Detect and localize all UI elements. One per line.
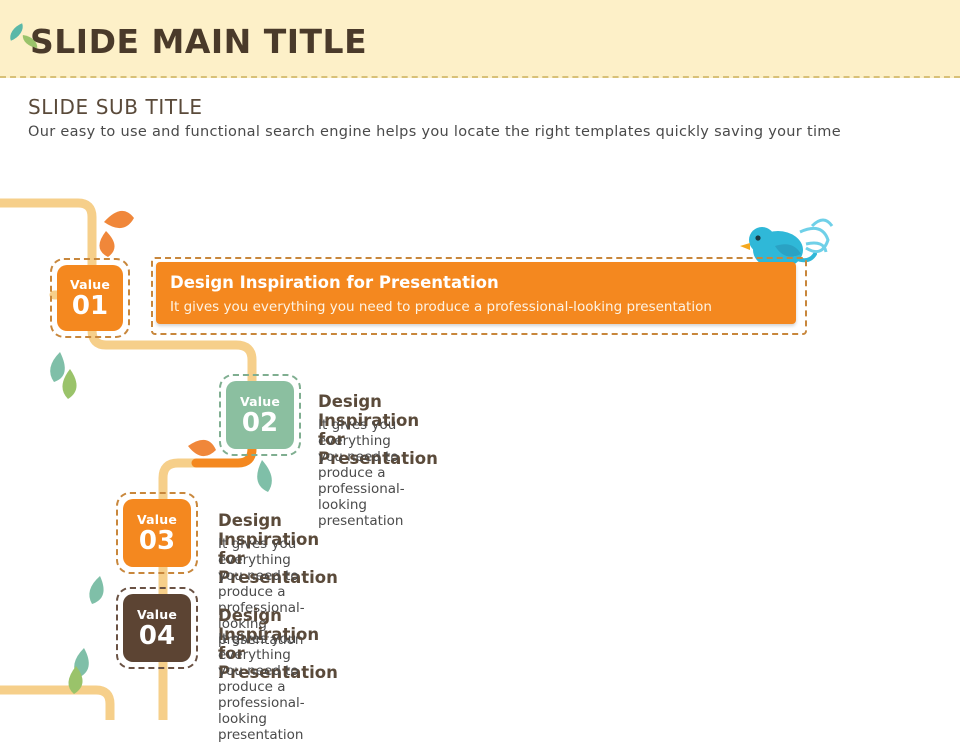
badge-value-label: Value (123, 607, 191, 622)
value-badge-04[interactable]: Value 04 (123, 594, 191, 662)
title-band: SLIDE MAIN TITLE (0, 0, 960, 78)
slide-description: Our easy to use and functional search en… (28, 124, 841, 140)
item-body: It gives you everything you need to prod… (218, 631, 305, 743)
badge-number: 04 (123, 623, 191, 649)
badge-number: 03 (123, 528, 191, 554)
badge-value-label: Value (123, 512, 191, 527)
item-heading: Design Inspiration for Presentation (170, 273, 499, 292)
badge-value-label: Value (226, 394, 294, 409)
slide-subtitle: SLIDE SUB TITLE (28, 95, 203, 119)
item-body: It gives you everything you need to prod… (170, 299, 712, 315)
badge-value-label: Value (57, 277, 123, 292)
badge-number: 01 (57, 293, 123, 319)
value-badge-02[interactable]: Value 02 (226, 381, 294, 449)
badge-number: 02 (226, 410, 294, 436)
value-badge-03[interactable]: Value 03 (123, 499, 191, 567)
page-title: SLIDE MAIN TITLE (30, 22, 367, 61)
value-badge-01[interactable]: Value 01 (57, 265, 123, 331)
content-panel-01[interactable]: Design Inspiration for Presentation It g… (156, 262, 796, 324)
